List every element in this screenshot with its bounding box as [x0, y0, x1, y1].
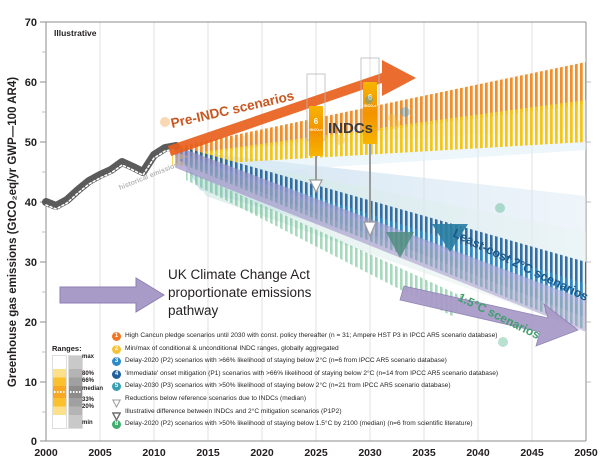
ranges-swatch-grey: [68, 355, 83, 429]
annotation-indcs: INDCs: [328, 120, 373, 137]
legend-item-8: 8 Delay-2020 (P2) scenarios with >50% li…: [112, 419, 582, 432]
legend-bullet-4: 4: [112, 370, 121, 379]
range-label-66: 66%: [82, 378, 94, 384]
legend-text-3: Delay-2020 (P2) scenarios with >66% like…: [125, 356, 447, 367]
historical-emissions-line: [46, 146, 176, 209]
legend-text-2: Min/max of conditional & unconditional I…: [125, 344, 339, 355]
range-label-80: 80%: [82, 371, 94, 377]
legend-bullet-3: 3: [112, 357, 121, 366]
uk-cca-line-2: proportionate emissions: [168, 284, 348, 302]
y-tick-20: 20: [25, 317, 37, 329]
legend-bullet-8: 8: [112, 420, 121, 429]
illustrative-badge: Illustrative: [54, 28, 97, 38]
x-tick-2000: 2000: [34, 447, 58, 459]
legend-item-6: Reductions below reference scenarios due…: [112, 394, 582, 407]
y-axis-label: Greenhouse gas emissions (GtCO₂eq/yr GWP…: [7, 77, 19, 387]
range-label-median: median: [82, 386, 103, 392]
ranges-legend: Ranges: max 80% 66% median 33% 20% min: [52, 344, 114, 429]
uk-cca-annotation-text: UK Climate Change Act proportionate emis…: [168, 266, 348, 319]
triangle-filled-icon: [112, 408, 121, 417]
legend-text-7: Illustrative difference between INDCs an…: [125, 407, 342, 418]
x-tick-2020: 2020: [250, 447, 274, 459]
legend-bullet-1: 1: [112, 332, 121, 341]
range-label-33: 33%: [82, 397, 94, 403]
uk-cca-line-1: UK Climate Change Act: [168, 266, 348, 284]
x-tick-2045: 2045: [520, 447, 544, 459]
y-tick-30: 30: [25, 257, 37, 269]
legend-bullet-5: 5: [112, 382, 121, 391]
triangle-open-icon: [112, 395, 121, 404]
range-label-min: min: [82, 420, 93, 426]
y-tick-40: 40: [25, 197, 37, 209]
range-label-max: max: [82, 354, 94, 360]
x-tick-2035: 2035: [412, 447, 436, 459]
legend-text-8: Delay-2020 (P2) scenarios with >50% like…: [125, 419, 473, 430]
legend-item-7: Illustrative difference between INDCs an…: [112, 407, 582, 420]
legend-item-5: 5 Delay-2030 (P3) scenarios with >50% li…: [112, 381, 582, 394]
legend-text-1: High Cancun pledge scenarios until 2030 …: [125, 331, 497, 342]
legend-item-1: 1 High Cancun pledge scenarios until 203…: [112, 331, 582, 344]
ranges-swatch-yellow: [52, 355, 67, 429]
legend-text-5: Delay-2030 (P3) scenarios with >50% like…: [125, 381, 451, 392]
legend-item-3: 3 Delay-2020 (P2) scenarios with >66% li…: [112, 356, 582, 369]
emissions-gap-chart: 70 60 50 40 30 20 10 0 Greenhouse gas em…: [0, 0, 600, 470]
x-tick-2005: 2005: [88, 447, 112, 459]
legend-bullet-2: 2: [112, 345, 121, 354]
indc-bar-2030-unit: GtCO₂e: [364, 104, 377, 108]
x-tick-2040: 2040: [466, 447, 490, 459]
indc-bar-2025-value: 6: [314, 117, 319, 126]
legend-item-4: 4 'Immediate' onset mitigation (P1) scen…: [112, 369, 582, 382]
legend-text-6: Reductions below reference scenarios due…: [125, 394, 306, 405]
uk-cca-line-3: pathway: [168, 302, 348, 320]
y-tick-labels: 70 60 50 40 30 20 10 0: [25, 17, 37, 448]
y-tick-60: 60: [25, 77, 37, 89]
legend-text-4: 'Immediate' onset mitigation (P1) scenar…: [125, 369, 498, 380]
y-tick-70: 70: [25, 17, 37, 29]
x-tick-2050: 2050: [574, 447, 598, 459]
uk-cca-annotation-arrow: [58, 276, 166, 314]
ranges-legend-title: Ranges:: [52, 344, 114, 353]
ranges-legend-labels: max 80% 66% median 33% 20% min: [82, 355, 116, 427]
range-label-20: 20%: [82, 404, 94, 410]
legend-item-2: 2 Min/max of conditional & unconditional…: [112, 344, 582, 357]
x-tick-2015: 2015: [196, 447, 220, 459]
chart-legend: 1 High Cancun pledge scenarios until 203…: [112, 331, 582, 432]
y-tick-50: 50: [25, 137, 37, 149]
x-tick-2010: 2010: [142, 447, 166, 459]
x-tick-labels: 2000 2005 2010 2015 2020 2025 2030 2035 …: [34, 447, 598, 459]
indc-bar-2025-unit: GtCO₂e: [310, 128, 323, 132]
y-tick-10: 10: [25, 377, 37, 389]
x-tick-2030: 2030: [358, 447, 382, 459]
x-tick-2025: 2025: [304, 447, 328, 459]
